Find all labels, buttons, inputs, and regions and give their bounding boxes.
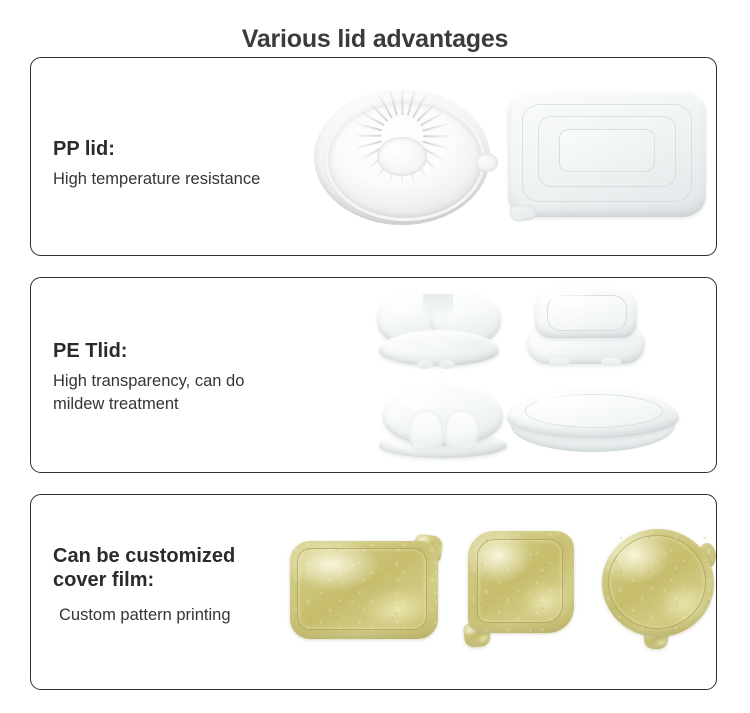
- square-lid-clip: [549, 358, 569, 366]
- heart-lid-foot: [439, 360, 455, 369]
- round-lid-pull-tab: [476, 153, 498, 172]
- panel-pp-lid: PP lid: High temperature resistance: [30, 57, 717, 256]
- panel-pe-tlid-heading: PE Tlid:: [53, 340, 244, 364]
- gold-square-lid-rim: [477, 539, 563, 623]
- rect-lid-emboss-inner: [559, 129, 654, 172]
- heart-lid-foot: [417, 360, 433, 369]
- heart-lid-base: [379, 330, 499, 366]
- panel-pe-tlid: PE Tlid: High transparency, can do milde…: [30, 277, 717, 473]
- heart-shaped-clear-lid-image: [377, 292, 501, 366]
- square-lid-inner-panel: [547, 295, 627, 331]
- rect-lid-corner-notch: [509, 204, 537, 223]
- panel-custom-cover-film: Can be customized cover film: Custom pat…: [30, 494, 717, 690]
- round-lid-center-hub: [377, 137, 426, 176]
- panel-custom-cover-film-text-block: Can be customized cover film: Custom pat…: [53, 545, 235, 628]
- gold-rect-lid-rim: [297, 548, 427, 630]
- panel-pp-lid-product-area: [276, 58, 716, 255]
- round-ribbed-pp-lid-image: [314, 89, 490, 225]
- gold-round-lid-rim: [608, 535, 706, 629]
- page-title: Various lid advantages: [0, 25, 750, 54]
- gold-square-foil-lid-image: [464, 531, 578, 643]
- square-clear-dome-lid-image: [527, 288, 645, 366]
- oval-lid-inner-panel: [525, 394, 663, 428]
- panel-custom-cover-film-subtext: Custom pattern printing: [53, 598, 235, 627]
- dome-lid-inner-bump: [408, 409, 445, 451]
- round-clear-dome-lid-image: [379, 384, 507, 458]
- panel-pe-tlid-subtext: High transparency, can do mildew treatme…: [53, 370, 244, 417]
- heart-lid-center-dip: [423, 294, 453, 320]
- rectangular-pp-lid-image: [508, 91, 706, 217]
- panel-pp-lid-heading: PP lid:: [53, 138, 260, 162]
- panel-pp-lid-text-block: PP lid: High temperature resistance: [53, 138, 260, 191]
- panel-pe-tlid-text-block: PE Tlid: High transparency, can do milde…: [53, 340, 244, 416]
- oval-clear-lid-image: [507, 388, 679, 454]
- gold-round-foil-lid-image: [602, 529, 717, 647]
- panel-custom-cover-film-product-area: [246, 495, 716, 689]
- panel-custom-cover-film-heading: Can be customized cover film:: [53, 545, 235, 592]
- panel-pp-lid-subtext: High temperature resistance: [53, 168, 260, 191]
- square-lid-clip: [601, 358, 621, 366]
- gold-rectangular-foil-lid-image: [290, 535, 438, 639]
- dome-lid-inner-bump: [444, 409, 481, 451]
- panel-pe-tlid-product-area: [331, 278, 716, 472]
